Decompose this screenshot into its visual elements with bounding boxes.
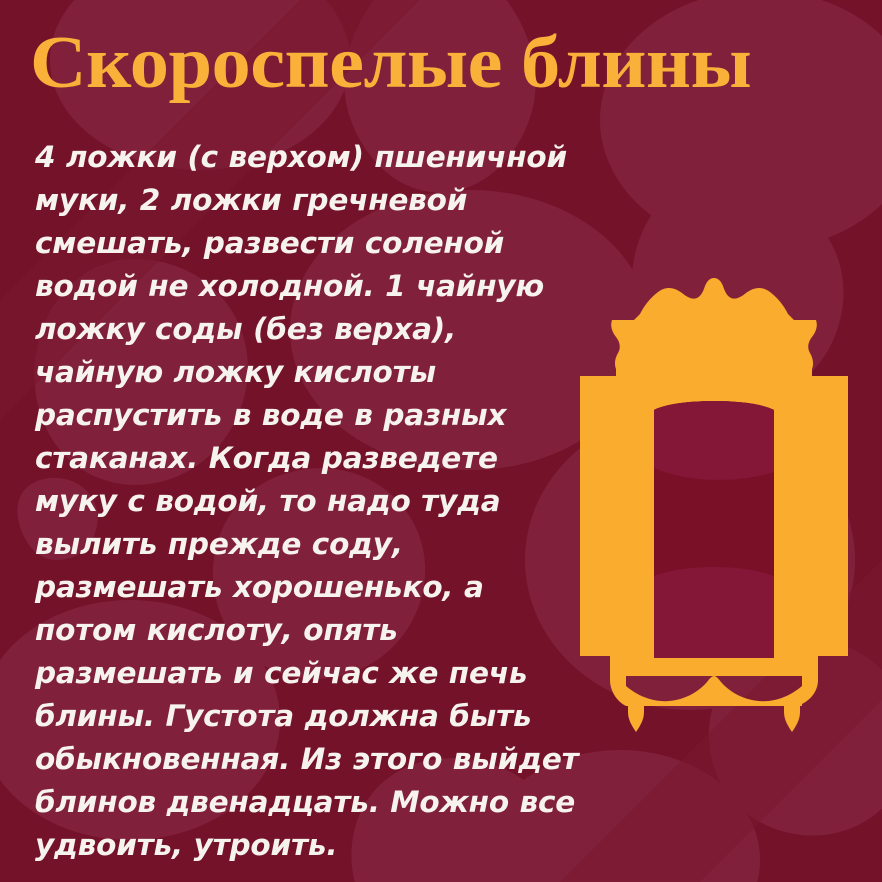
title-block: Скороспелые блины [30, 26, 860, 100]
mirror-frame-illustration [566, 276, 862, 746]
page-title: Скороспелые блины [30, 26, 882, 100]
recipe-poster: Скороспелые блины 4 ложки (с верхом) пше… [0, 0, 882, 882]
recipe-instructions: 4 ложки (с верхом) пшеничной муки, 2 лож… [35, 136, 580, 867]
recipe-text-block: 4 ложки (с верхом) пшеничной муки, 2 лож… [35, 136, 580, 867]
